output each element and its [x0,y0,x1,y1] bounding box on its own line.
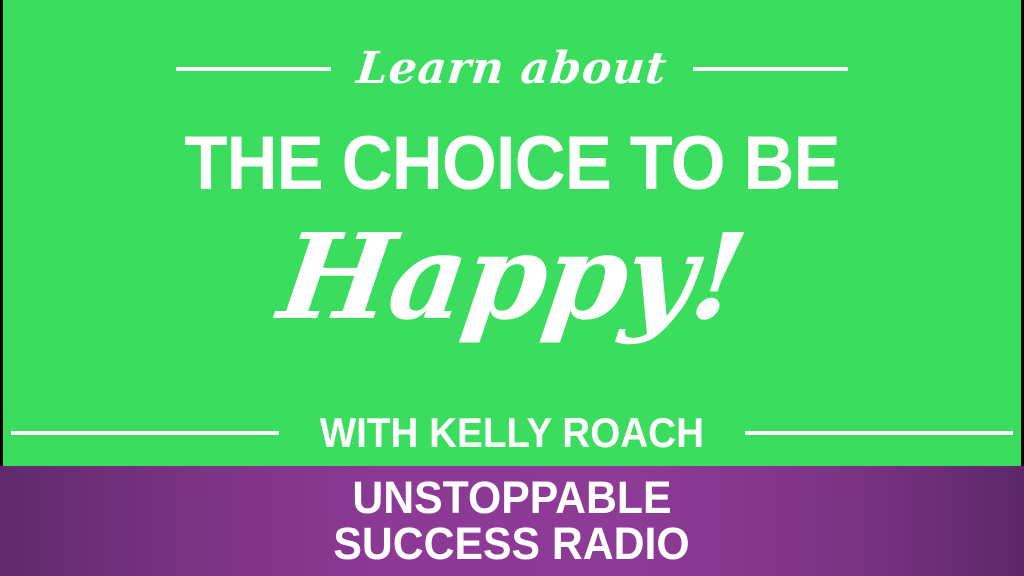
video-title-slide: Learn about THE CHOICE TO BE Happy! WITH… [0,0,1024,576]
show-name-line1: UNSTOPPABLE [352,476,671,520]
host-text: WITH KELLY ROACH [298,412,726,454]
divider-line-bottom-left [11,431,279,435]
divider-line-left [176,67,331,71]
host-row: WITH KELLY ROACH [0,405,1024,461]
intro-text: Learn about [329,47,695,91]
intro-row: Learn about [0,38,1024,100]
title-script: Happy! [0,218,1024,336]
divider-line-bottom-right [745,431,1013,435]
show-name-line2: SUCCESS RADIO [334,522,690,566]
divider-line-right [693,67,848,71]
show-branding-content: UNSTOPPABLE SUCCESS RADIO [0,466,1024,576]
title-main: THE CHOICE TO BE [36,126,988,202]
show-branding-banner: UNSTOPPABLE SUCCESS RADIO [0,466,1024,576]
